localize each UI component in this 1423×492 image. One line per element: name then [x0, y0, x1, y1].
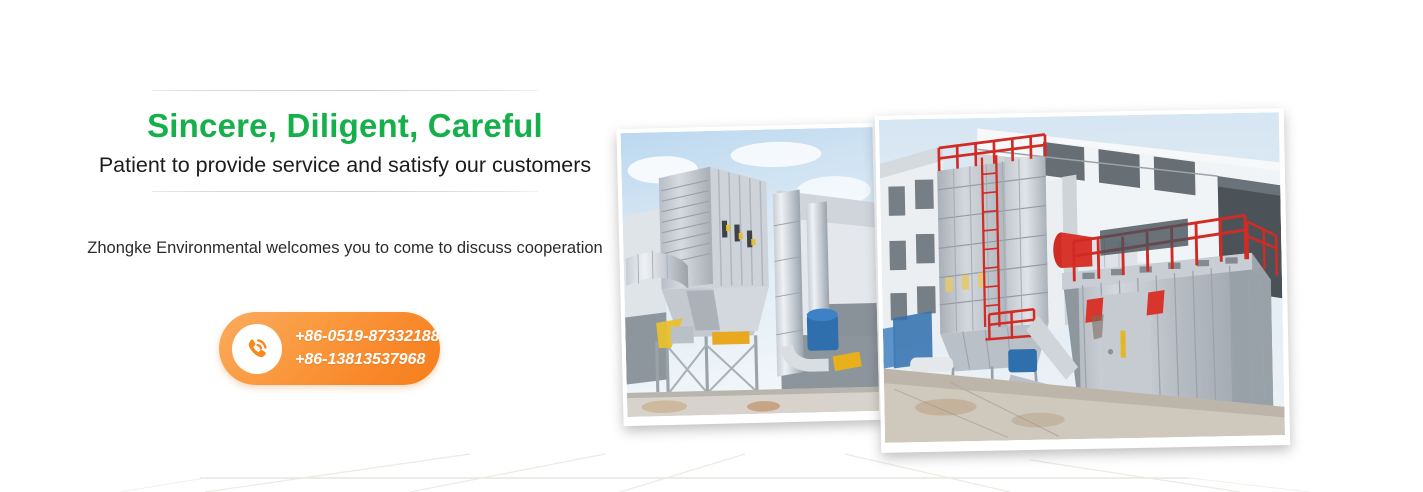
contact-phone-button[interactable]: +86-0519-87332188 +86-13813537968 — [219, 312, 440, 385]
photo-left-image — [621, 127, 880, 417]
welcome-message: Zhongke Environmental welcomes you to co… — [60, 239, 630, 258]
photo-dust-collector-left[interactable]: Industrial baghouse dust collector with … — [616, 123, 883, 426]
photo-dust-collector-right[interactable]: Large galvanized dust collection units w… — [875, 108, 1290, 453]
photo-right-image — [879, 112, 1285, 443]
divider-bottom — [152, 191, 538, 192]
headline: Sincere, Diligent, Careful — [60, 106, 630, 146]
text-column: Sincere, Diligent, Careful Patient to pr… — [60, 90, 630, 258]
subheadline: Patient to provide service and satisfy o… — [60, 152, 630, 179]
promo-banner: Sincere, Diligent, Careful Patient to pr… — [0, 0, 1423, 492]
phone-number-landline[interactable]: +86-0519-87332188 — [295, 326, 440, 349]
phone-number-mobile[interactable]: +86-13813537968 — [295, 349, 440, 372]
phone-call-icon — [241, 333, 273, 365]
phone-icon-badge — [232, 324, 282, 374]
phone-number-list: +86-0519-87332188 +86-13813537968 — [295, 326, 440, 371]
divider-top — [152, 90, 538, 91]
